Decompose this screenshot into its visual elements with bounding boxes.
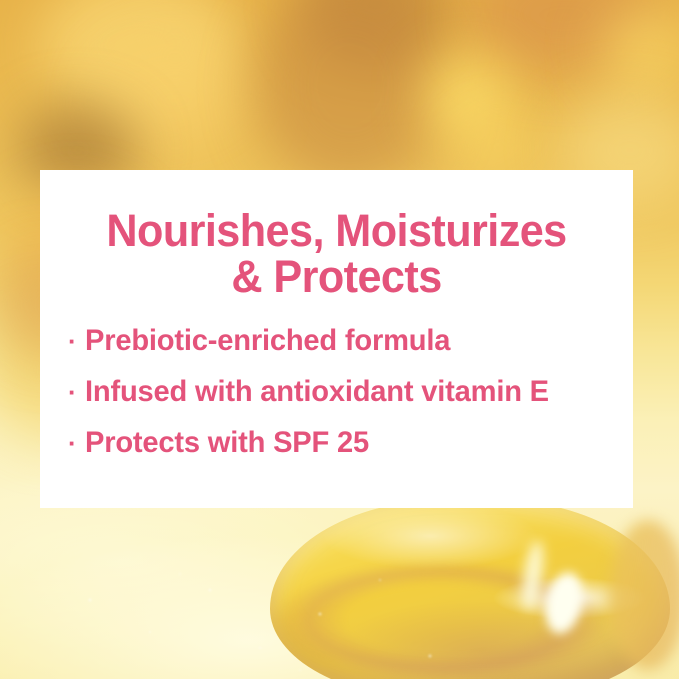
softgel-capsule-right-edge <box>610 520 679 670</box>
headline-line-2: & Protects <box>77 254 596 300</box>
headline: Nourishes, Moisturizes & Protects <box>52 170 621 300</box>
list-item: · Infused with antioxidant vitamin E <box>68 377 633 407</box>
bullet-dot-icon: · <box>68 328 85 354</box>
list-item-label: Infused with antioxidant vitamin E <box>85 377 617 407</box>
list-item: · Protects with SPF 25 <box>68 428 633 458</box>
text-card: Nourishes, Moisturizes & Protects · Preb… <box>40 170 633 508</box>
bokeh-shadow-center <box>255 0 445 190</box>
surface-speckle-texture <box>60 560 480 679</box>
bokeh-circle-top-right <box>600 10 679 90</box>
bullet-dot-icon: · <box>68 430 85 456</box>
product-marketing-image: Nourishes, Moisturizes & Protects · Preb… <box>0 0 679 679</box>
bullet-dot-icon: · <box>68 379 85 405</box>
benefit-list: · Prebiotic-enriched formula · Infused w… <box>40 300 633 458</box>
bokeh-circle-right-2 <box>462 118 534 178</box>
list-item-label: Protects with SPF 25 <box>85 428 617 458</box>
list-item: · Prebiotic-enriched formula <box>68 326 633 356</box>
headline-line-1: Nourishes, Moisturizes <box>77 208 596 254</box>
list-item-label: Prebiotic-enriched formula <box>85 326 617 356</box>
